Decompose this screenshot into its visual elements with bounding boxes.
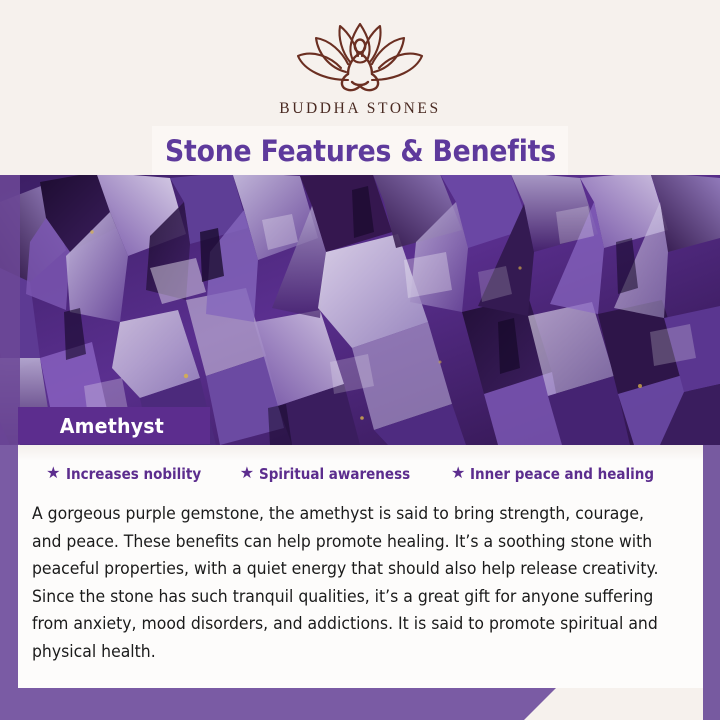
panel-top-fade	[18, 445, 703, 461]
star-icon: ★	[46, 466, 60, 482]
page-title: Stone Features & Benefits	[165, 134, 556, 168]
benefits-list: ★ Increases nobility ★ Spiritual awarene…	[18, 465, 703, 483]
stone-description: A gorgeous purple gemstone, the amethyst…	[32, 500, 662, 665]
star-icon: ★	[451, 466, 465, 482]
frame-bottom-bar	[0, 688, 556, 720]
frame-top-bar	[188, 0, 720, 30]
page-title-plate: Stone Features & Benefits	[152, 126, 568, 175]
benefit-label: Spiritual awareness	[259, 465, 410, 483]
content-panel: ★ Increases nobility ★ Spiritual awarene…	[18, 445, 703, 688]
benefit-label: Inner peace and healing	[470, 465, 654, 483]
benefit-item: ★ Increases nobility	[46, 465, 216, 483]
stone-name-tag: Amethyst	[18, 407, 210, 444]
stone-name-label: Amethyst	[22, 414, 164, 438]
benefit-item: ★ Spiritual awareness	[240, 465, 427, 483]
amethyst-hero-image	[0, 172, 720, 445]
benefit-label: Increases nobility	[66, 465, 201, 483]
amethyst-crystal-illustration	[0, 172, 720, 445]
benefit-item: ★ Inner peace and healing	[451, 465, 675, 483]
hero-left-overlay	[0, 172, 20, 445]
star-icon: ★	[240, 466, 254, 482]
